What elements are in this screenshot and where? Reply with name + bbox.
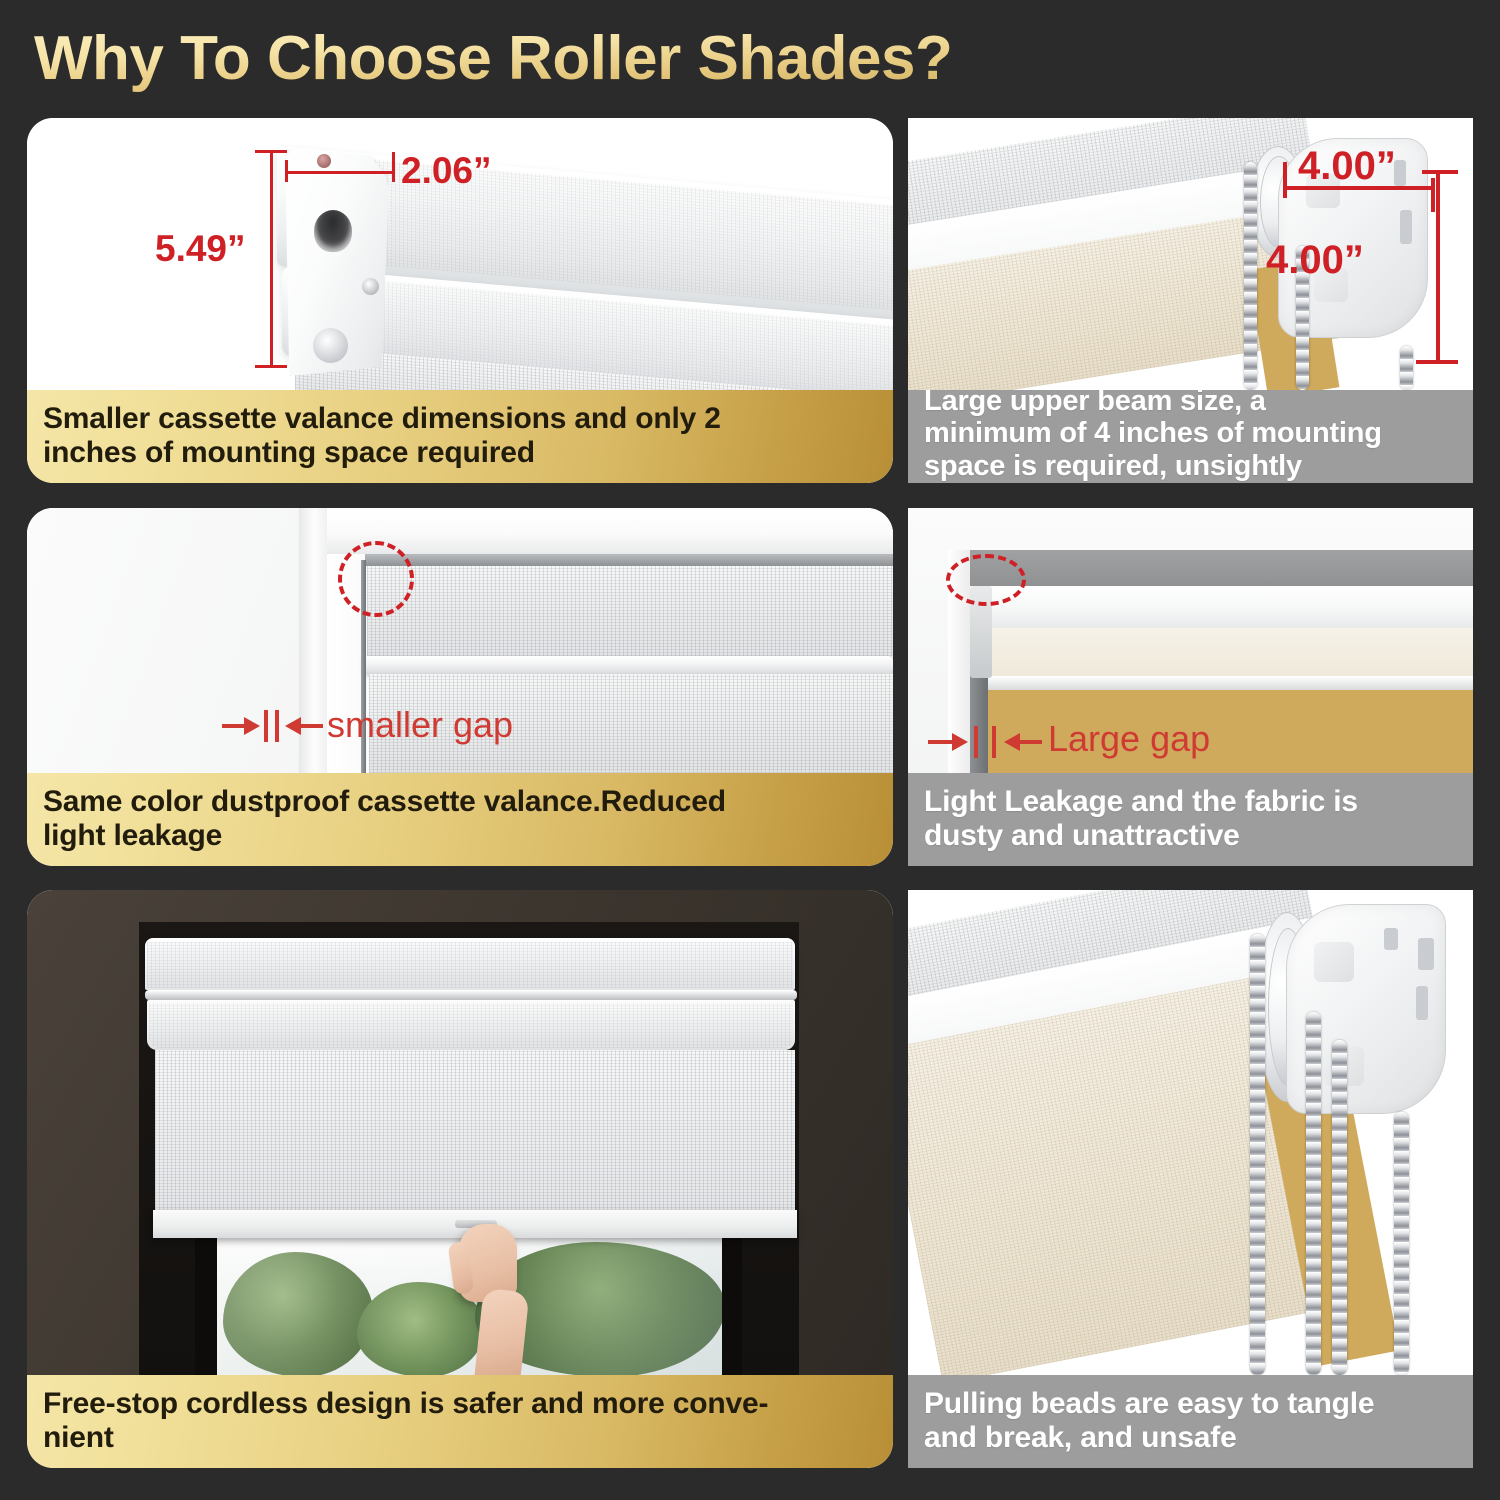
panel-light-leakage: Large gap Light Leakage and the fabric i… xyxy=(908,508,1473,866)
large-gap-label: Large gap xyxy=(1048,718,1210,760)
cassette-bottom-rail xyxy=(363,656,893,674)
gap-arrow-right-icon xyxy=(952,733,968,751)
panel-2-caption-line-3: space is required, unsightly xyxy=(924,450,1302,482)
panel-1-caption-bar: Smaller cassette valance dimensions and … xyxy=(27,390,893,483)
gap-arrow-stem-right xyxy=(1020,740,1042,744)
panel-2-caption-bar: Large upper beam size, a minimum of 4 in… xyxy=(908,390,1473,483)
panel-4-caption-text: Light Leakage and the fabric is dusty an… xyxy=(924,785,1358,852)
beam-height-dim-label: 4.00” xyxy=(1266,238,1364,283)
gap-arrow-stem-left xyxy=(222,724,244,728)
panel-3-caption-line-2: light leakage xyxy=(43,819,222,852)
beam-height-cap-top xyxy=(1422,170,1458,174)
cassette-pin xyxy=(317,154,331,168)
panel-2-caption-text: Large upper beam size, a minimum of 4 in… xyxy=(924,385,1382,482)
beam-width-cap-left xyxy=(1283,162,1287,198)
width-dim-line xyxy=(285,171,395,174)
panel-1-caption-line-1: Smaller cassette valance dimensions and … xyxy=(43,402,721,435)
gap-tick-b xyxy=(275,710,279,742)
window-mullion-right xyxy=(722,1230,742,1375)
gap-arrow-stem-right xyxy=(301,724,323,728)
panel-6-caption-text: Pulling beads are easy to tangle and bre… xyxy=(924,1387,1374,1454)
panel-5-photo xyxy=(27,890,893,1375)
panel-5-caption-bar: Free-stop cordless design is safer and m… xyxy=(27,1375,893,1468)
panel-4-caption-line-1: Light Leakage and the fabric is xyxy=(924,785,1358,818)
bead-chain-left xyxy=(1250,934,1265,1375)
panel-3-photo: smaller gap xyxy=(27,508,893,773)
panel-1-caption-line-2: inches of mounting space required xyxy=(43,436,535,469)
panel-1-caption-text: Smaller cassette valance dimensions and … xyxy=(43,402,721,469)
highlight-circle-icon xyxy=(946,554,1026,606)
height-dim-label: 5.49” xyxy=(155,228,246,270)
smaller-gap-label: smaller gap xyxy=(327,704,513,746)
cassette-screw-upper xyxy=(362,278,379,295)
shade-upper-fabric xyxy=(367,566,893,656)
panel-smaller-cassette: 5.49” 2.06” Smaller cassette valance dim… xyxy=(27,118,893,483)
gap-arrow-stem-left xyxy=(928,740,952,744)
bracket-slot-right xyxy=(1418,938,1434,970)
panel-6-photo xyxy=(908,890,1473,1375)
cassette-screw-lower xyxy=(313,328,348,363)
shade-valance-texture xyxy=(147,942,793,988)
valance-roller-texture xyxy=(149,1003,793,1048)
window-mullion-left xyxy=(195,1230,217,1375)
bracket-slot-mid xyxy=(1416,986,1428,1020)
panel-6-caption-line-1: Pulling beads are easy to tangle xyxy=(924,1387,1374,1420)
panel-5-caption-line-2: nient xyxy=(43,1421,114,1454)
width-dim-cap-right xyxy=(392,152,395,182)
panel-3-caption-line-1: Same color dustproof cassette valance.Re… xyxy=(43,785,726,818)
panel-large-beam: 4.00” 4.00” Large upper beam size, a min… xyxy=(908,118,1473,483)
beam-height-cap-bottom xyxy=(1416,360,1458,364)
page-title: Why To Choose Roller Shades? xyxy=(34,22,1134,96)
panel-3-caption-bar: Same color dustproof cassette valance.Re… xyxy=(27,773,893,866)
valance-seam xyxy=(145,990,797,1000)
fabric-bottom-rail xyxy=(972,676,1473,690)
roller-tube-bar xyxy=(970,586,1473,634)
bead-chain-middle xyxy=(1306,1012,1321,1375)
infographic-root: Why To Choose Roller Shades? 5.49” xyxy=(0,0,1500,1500)
width-dim-cap-left xyxy=(285,160,288,182)
height-dim-line xyxy=(270,150,273,368)
cassette-shadow-line xyxy=(365,554,893,566)
panel-6-caption-line-2: and break, and unsafe xyxy=(924,1421,1237,1454)
beam-height-dim-line xyxy=(1436,170,1440,364)
height-dim-cap-bottom xyxy=(255,365,287,368)
panel-6-caption-bar: Pulling beads are easy to tangle and bre… xyxy=(908,1375,1473,1468)
width-dim-label: 2.06” xyxy=(401,150,492,192)
panel-pulling-beads: Pulling beads are easy to tangle and bre… xyxy=(908,890,1473,1468)
bead-chain-tail xyxy=(1400,346,1413,390)
highlight-circle-icon xyxy=(338,541,414,617)
cassette-clutch-port xyxy=(314,210,352,252)
window-casing-vertical xyxy=(299,508,327,773)
panel-4-caption-bar: Light Leakage and the fabric is dusty an… xyxy=(908,773,1473,866)
panel-2-caption-line-2: minimum of 4 inches of mounting xyxy=(924,417,1382,449)
panel-3-caption-text: Same color dustproof cassette valance.Re… xyxy=(43,785,726,852)
gap-arrow-inward-icon xyxy=(1004,733,1020,751)
panel-cordless-design: Free-stop cordless design is safer and m… xyxy=(27,890,893,1468)
panel-2-photo: 4.00” 4.00” xyxy=(908,118,1473,390)
panel-dustproof-cassette: smaller gap Same color dustproof cassett… xyxy=(27,508,893,866)
bracket-emboss-upper xyxy=(1314,942,1354,982)
window-head-casing xyxy=(327,508,893,554)
bead-chain-left xyxy=(1244,162,1257,390)
panel-2-caption-line-1: Large upper beam size, a xyxy=(924,385,1266,417)
gap-arrow-inward-icon xyxy=(285,717,301,735)
bead-chain-tail xyxy=(1394,1112,1409,1375)
panel-4-caption-line-2: dusty and unattractive xyxy=(924,819,1240,852)
panel-1-photo: 5.49” 2.06” xyxy=(27,118,893,390)
bracket-slot-top xyxy=(1384,928,1398,950)
height-dim-cap-top xyxy=(255,150,287,153)
gap-tick-a xyxy=(264,710,268,742)
large-gap-strip xyxy=(970,668,988,773)
panel-5-caption-text: Free-stop cordless design is safer and m… xyxy=(43,1387,768,1454)
gap-tick-b xyxy=(992,726,996,758)
bead-chain-right xyxy=(1332,1040,1347,1375)
panel-5-caption-line-1: Free-stop cordless design is safer and m… xyxy=(43,1387,768,1420)
gap-tick-a xyxy=(974,726,978,758)
bracket-slot-mid xyxy=(1400,210,1412,244)
gap-arrow-right-icon xyxy=(244,717,260,735)
shade-main-fabric xyxy=(155,1050,795,1235)
fabric-cream-band xyxy=(972,628,1473,680)
beam-width-dim-label: 4.00” xyxy=(1298,144,1396,189)
forearm-graphic xyxy=(475,1288,530,1375)
beam-width-cap-right xyxy=(1431,178,1435,212)
panel-4-photo: Large gap xyxy=(908,508,1473,773)
